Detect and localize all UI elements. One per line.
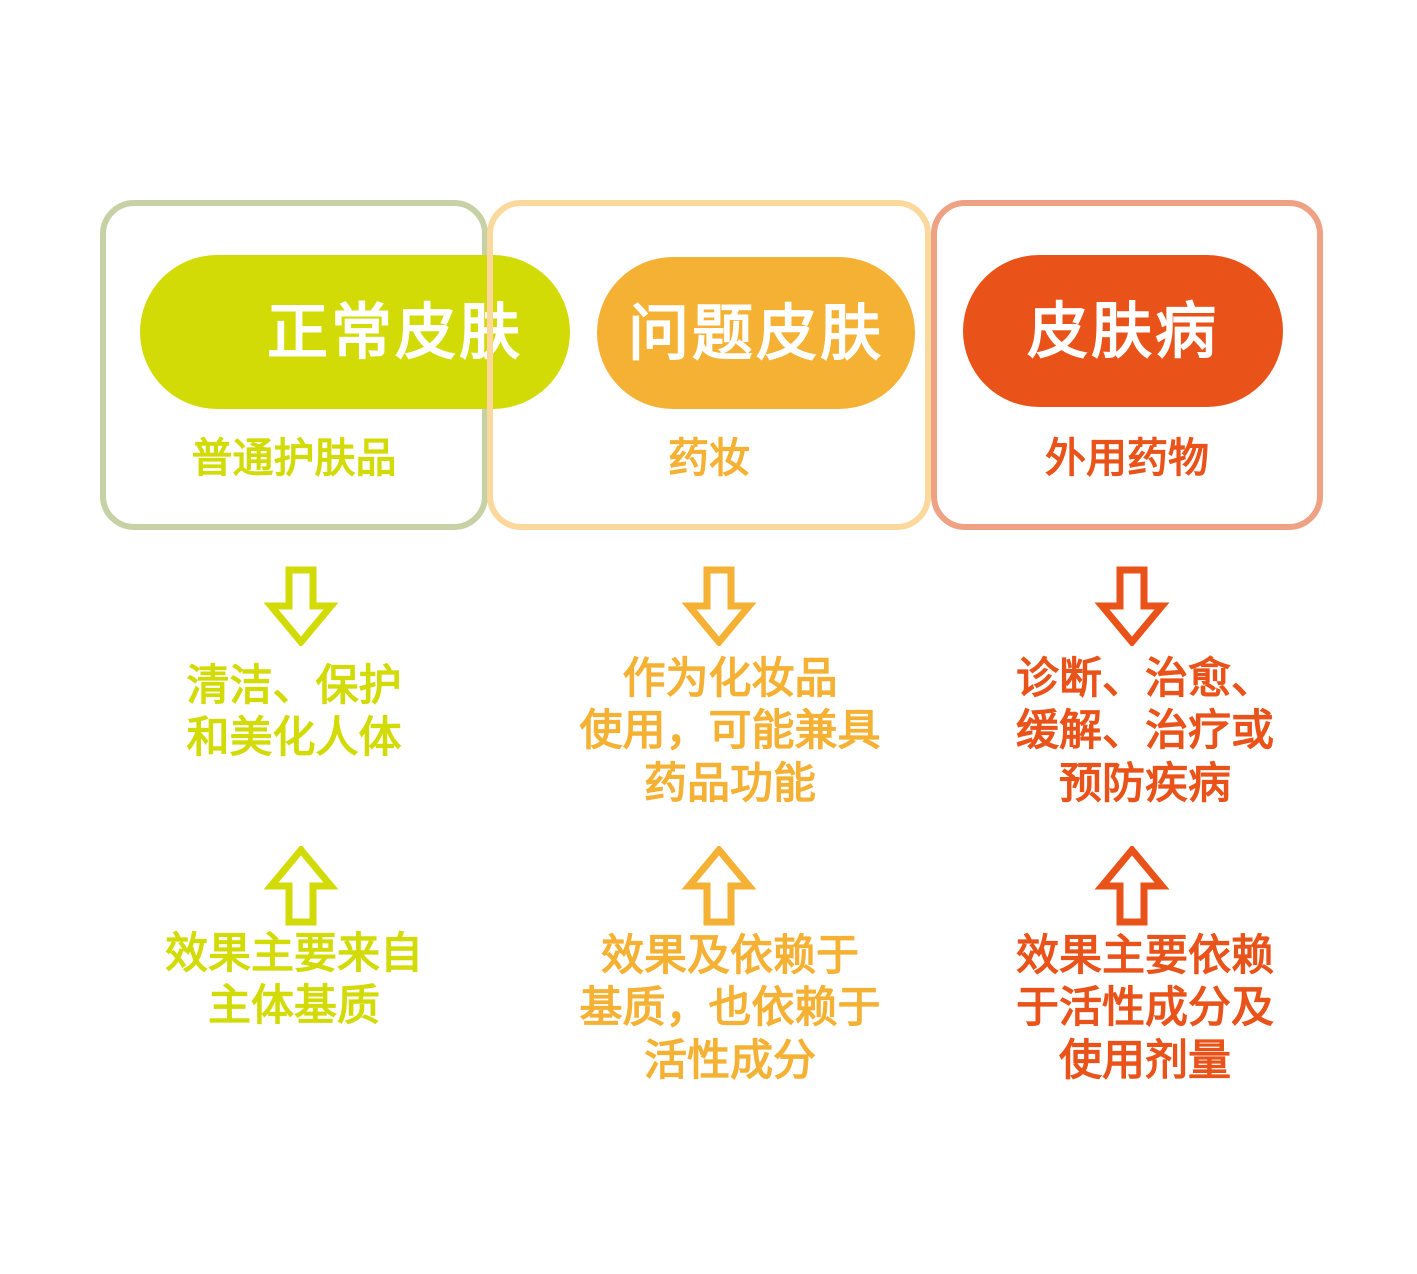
diagram-canvas: 正常皮肤 问题皮肤 皮肤病 普通护肤品 药妆 外用药物 清洁、保护 和美化人体 …: [0, 0, 1417, 1274]
up-arrow-icon: [261, 846, 341, 926]
down-arrow-icon: [261, 566, 341, 646]
mechanism-text-problem-skin: 效果及依赖于 基质，也依赖于 活性成分: [520, 930, 940, 1087]
pill-label-normal-skin: 正常皮肤: [267, 302, 523, 363]
pill-label-problem-skin: 问题皮肤: [628, 303, 884, 364]
pill-skin-disease: 皮肤病: [963, 255, 1283, 407]
mechanism-text-skin-disease: 效果主要依赖 于活性成分及 使用剂量: [935, 930, 1355, 1087]
purpose-text-problem-skin: 作为化妆品 使用，可能兼具 药品功能: [520, 653, 940, 810]
down-arrow-icon: [1092, 566, 1172, 646]
purpose-text-skin-disease: 诊断、治愈、 缓解、治疗或 预防疾病: [935, 653, 1355, 810]
mechanism-text-normal-skin: 效果主要来自 主体基质: [84, 928, 504, 1033]
pill-problem-skin: 问题皮肤: [597, 257, 915, 409]
sublabel-normal-skin: 普通护肤品: [100, 438, 488, 479]
sublabel-problem-skin: 药妆: [487, 438, 931, 479]
purpose-text-normal-skin: 清洁、保护 和美化人体: [84, 660, 504, 765]
sublabel-skin-disease: 外用药物: [931, 438, 1323, 479]
up-arrow-icon: [679, 846, 759, 926]
pill-label-skin-disease: 皮肤病: [1027, 301, 1219, 362]
up-arrow-icon: [1092, 846, 1172, 926]
down-arrow-icon: [679, 566, 759, 646]
